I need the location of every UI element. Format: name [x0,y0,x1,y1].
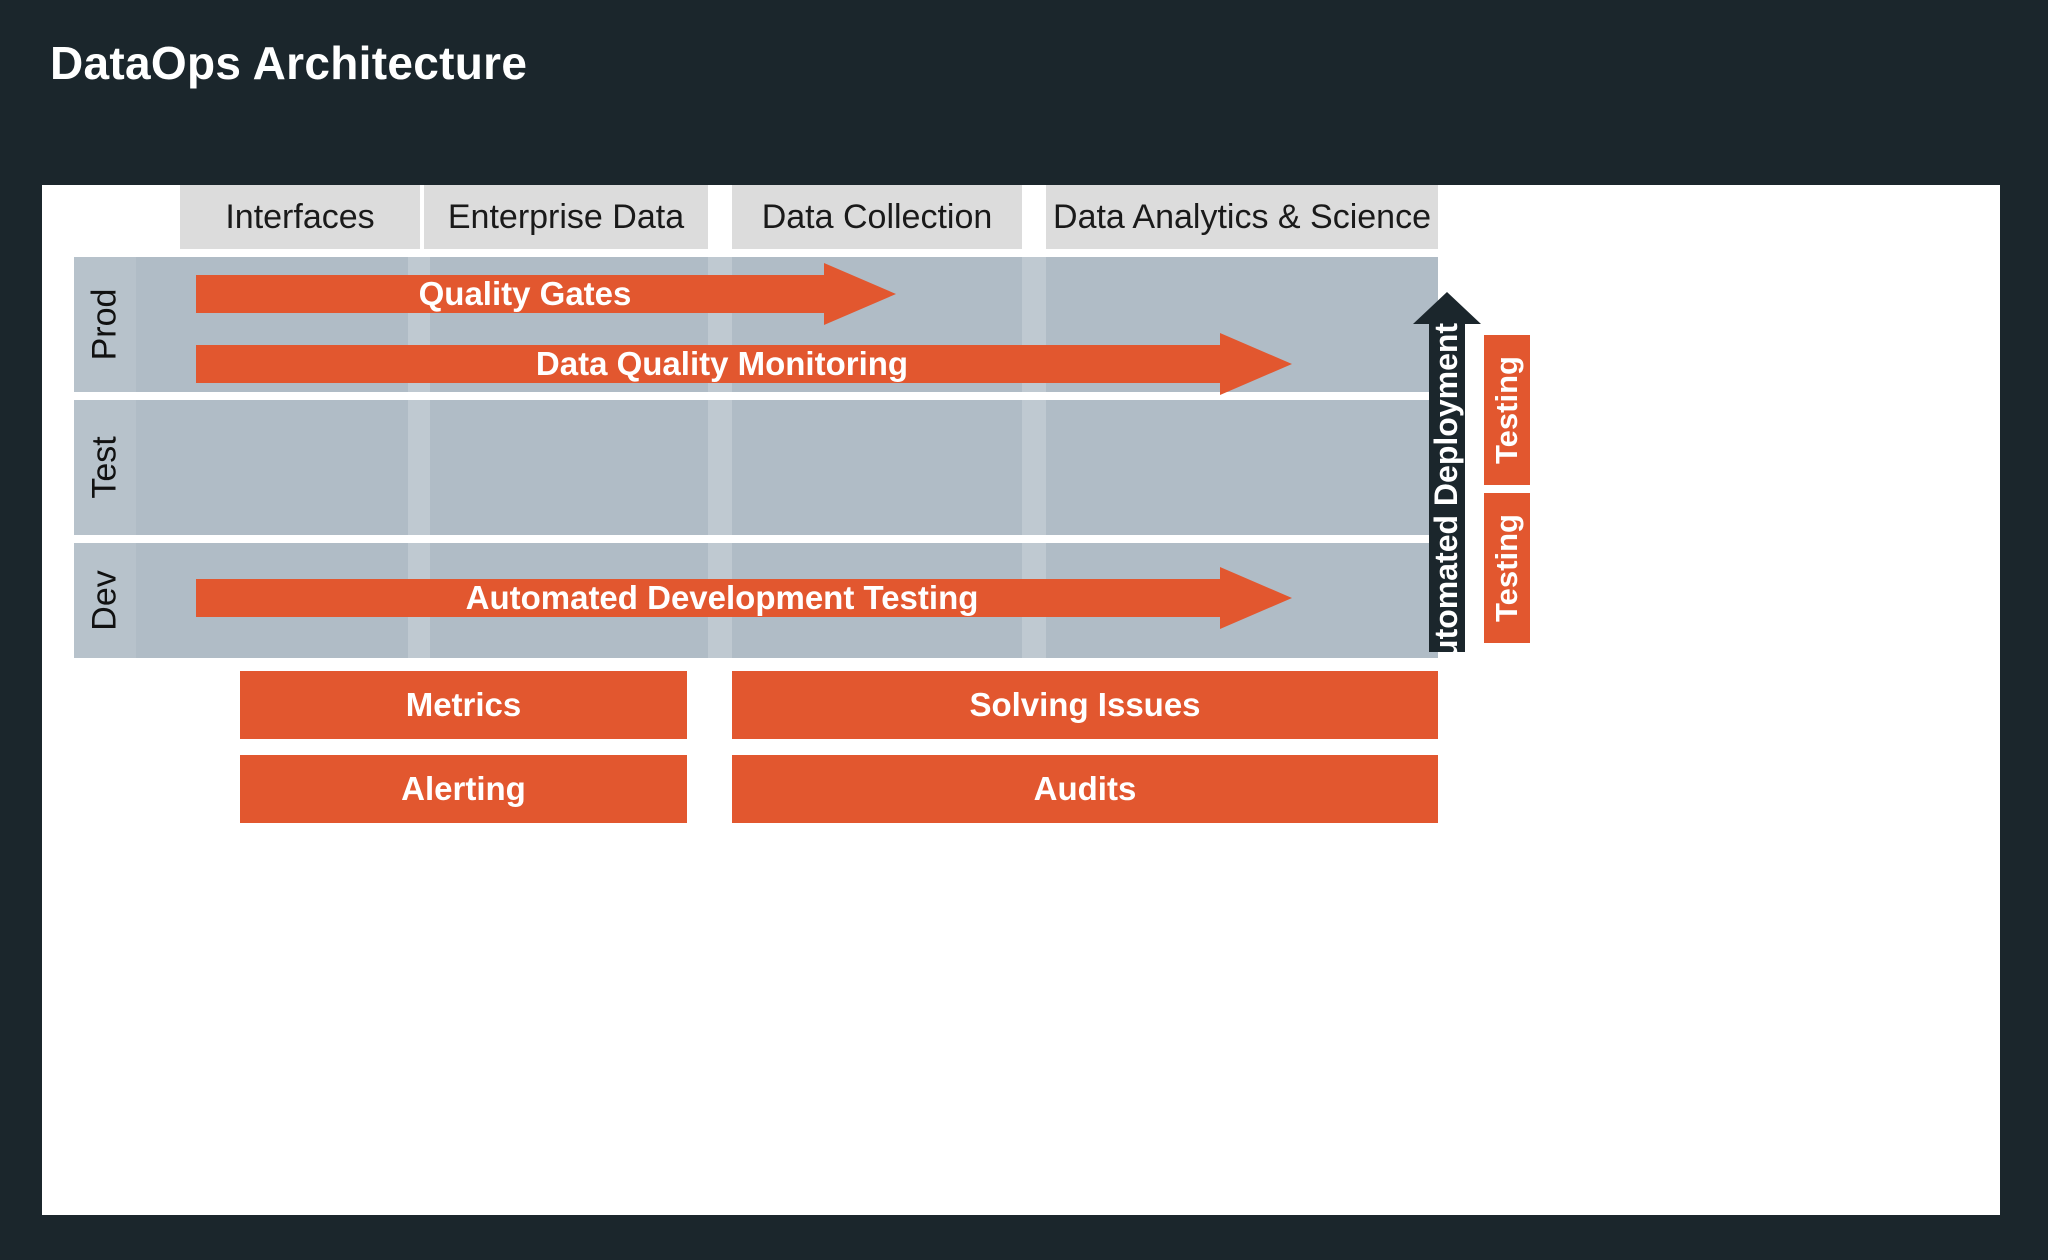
row-label-prod: Prod [74,257,136,392]
bottom-box-solving-issues-label: Solving Issues [969,686,1200,724]
column-header-data-analytics-science-label: Data Analytics & Science [1053,198,1431,237]
bottom-box-alerting: Alerting [240,755,687,823]
column-header-enterprise-data: Enterprise Data [424,185,708,249]
testing-box-upper-label: Testing [1489,356,1525,464]
cell-separator-test-2 [708,400,732,535]
bottom-box-audits-label: Audits [1034,770,1137,808]
flow-arrow-quality-gates: Quality Gates [196,263,896,325]
bottom-box-metrics: Metrics [240,671,687,739]
row-band-test [74,400,1438,535]
bottom-box-metrics-label: Metrics [406,686,522,724]
row-label-test-text: Test [86,436,125,498]
bottom-box-audits: Audits [732,755,1438,823]
row-label-dev-text: Dev [86,570,125,630]
column-header-enterprise-data-label: Enterprise Data [448,198,684,237]
column-header-interfaces: Interfaces [180,185,420,249]
flow-arrow-data-quality-monitoring: Data Quality Monitoring [196,333,1292,395]
row-label-prod-text: Prod [86,289,125,361]
row-label-dev: Dev [74,543,136,658]
cell-separator-test-3 [1022,400,1046,535]
diagram-canvas: DataOps Architecture Prod Test Dev [0,0,2048,1260]
column-header-data-collection: Data Collection [732,185,1022,249]
testing-box-lower-label: Testing [1489,514,1525,622]
automated-deployment-label-wrap: Automated Deployment [1413,292,1481,682]
flow-arrow-automated-development-testing: Automated Development Testing [196,567,1292,629]
flow-arrow-quality-gates-label: Quality Gates [419,275,632,313]
testing-box-lower: Testing [1484,493,1530,643]
page-title: DataOps Architecture [50,36,527,90]
column-header-data-collection-label: Data Collection [762,198,993,237]
column-header-interfaces-label: Interfaces [225,198,374,237]
bottom-box-solving-issues: Solving Issues [732,671,1438,739]
testing-box-upper: Testing [1484,335,1530,485]
column-header-data-analytics-science: Data Analytics & Science [1046,185,1438,249]
diagram-card: Prod Test Dev Inter [42,185,2000,1215]
row-label-test: Test [74,400,136,535]
bottom-box-alerting-label: Alerting [401,770,526,808]
cell-separator-test-1 [408,400,430,535]
flow-arrow-data-quality-monitoring-label: Data Quality Monitoring [536,345,908,383]
flow-arrow-automated-development-testing-label: Automated Development Testing [466,579,979,617]
automated-deployment-arrow: Automated Deployment [1413,292,1481,652]
automated-deployment-label: Automated Deployment [1429,322,1466,681]
